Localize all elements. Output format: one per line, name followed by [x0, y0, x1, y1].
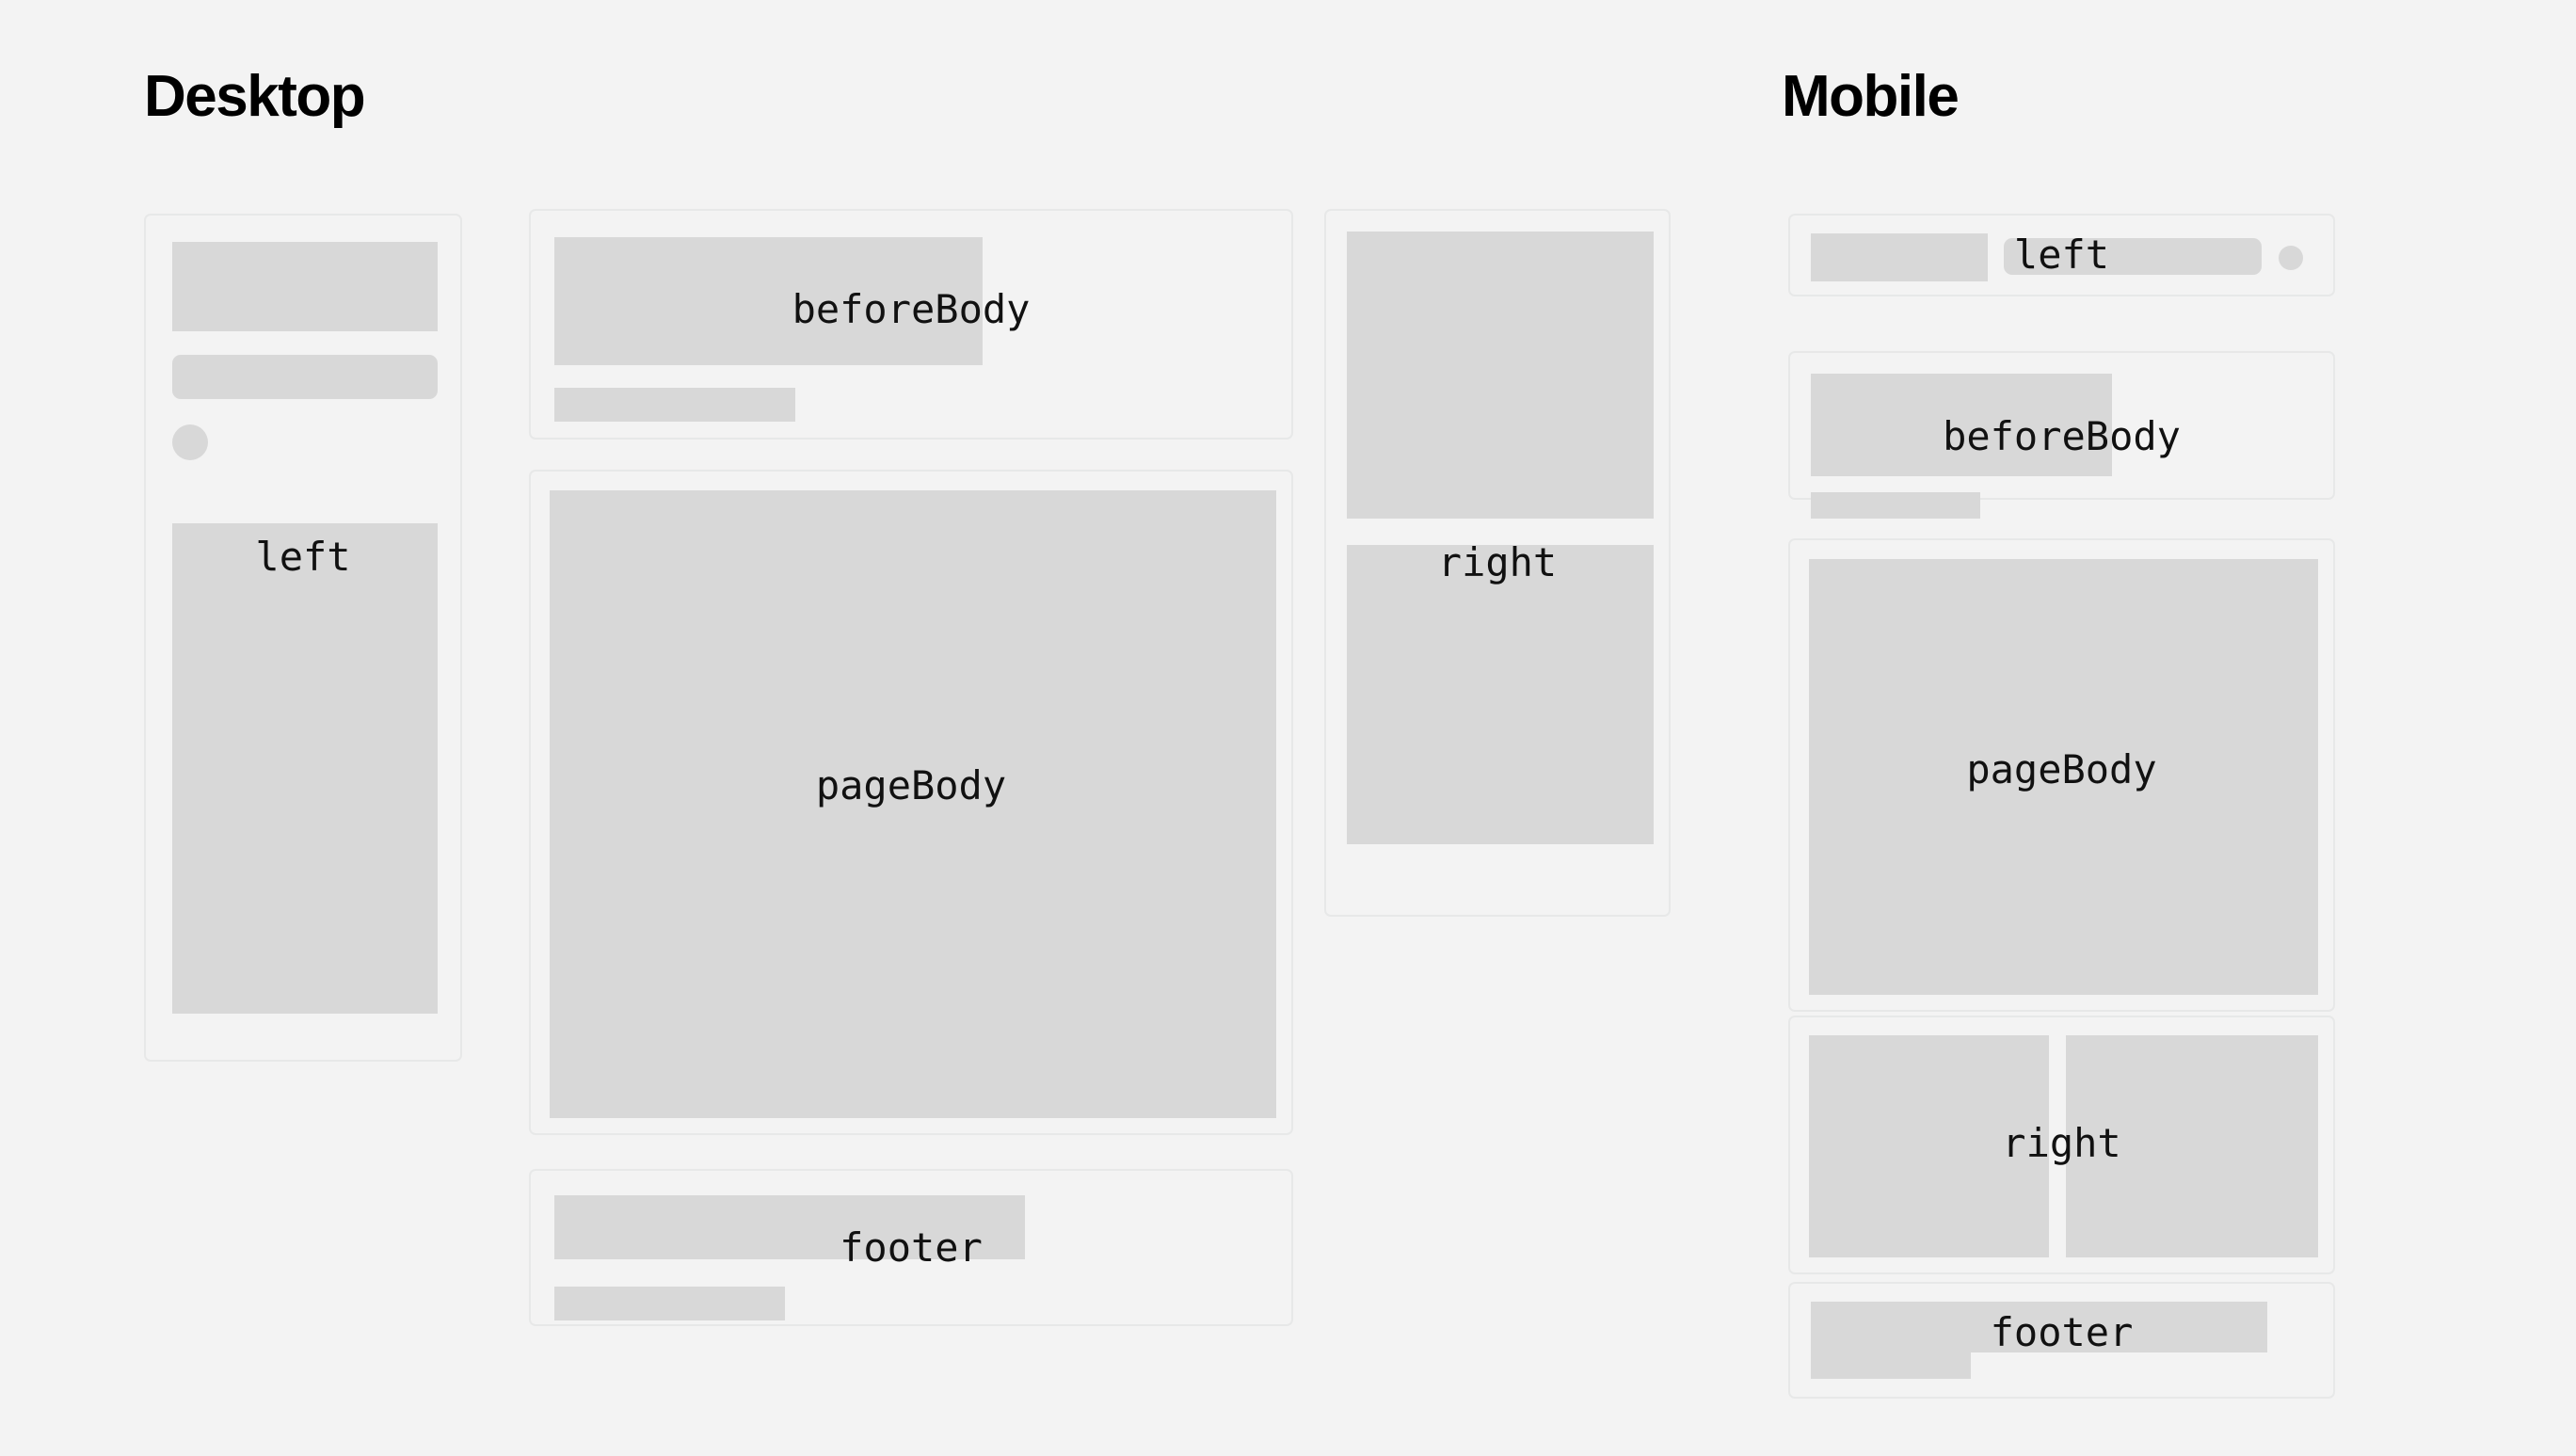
desktop-section-title: Desktop	[144, 68, 364, 126]
skeleton-block	[554, 388, 795, 422]
skeleton-block	[2066, 1035, 2318, 1257]
skeleton-block	[172, 242, 438, 331]
skeleton-block	[172, 523, 438, 1014]
desktop-pagebody-panel[interactable]	[529, 470, 1293, 1135]
skeleton-pill	[2004, 238, 2262, 275]
skeleton-block	[554, 237, 983, 365]
skeleton-block	[554, 1195, 1025, 1259]
skeleton-pill	[172, 355, 438, 399]
mobile-beforebody-panel[interactable]	[1788, 351, 2335, 500]
skeleton-block	[1811, 1302, 2267, 1352]
desktop-right-panel[interactable]	[1324, 209, 1671, 917]
skeleton-block	[1811, 492, 1980, 519]
skeleton-block	[1347, 232, 1654, 519]
desktop-beforebody-panel[interactable]	[529, 209, 1293, 440]
skeleton-avatar-circle	[172, 424, 208, 460]
mobile-left-panel[interactable]	[1788, 214, 2335, 296]
skeleton-block	[1811, 233, 1988, 281]
desktop-left-panel[interactable]	[144, 214, 462, 1062]
layout-preview-stage: Desktop Mobile left beforeBody pageBody …	[0, 0, 2576, 1456]
mobile-section-title: Mobile	[1782, 68, 1958, 126]
skeleton-block	[1347, 545, 1654, 844]
desktop-footer-panel[interactable]	[529, 1169, 1293, 1326]
skeleton-block	[1809, 1035, 2049, 1257]
mobile-pagebody-panel[interactable]	[1788, 538, 2335, 1012]
skeleton-avatar-circle	[2279, 246, 2303, 270]
skeleton-block	[550, 490, 1276, 1118]
skeleton-block	[1811, 374, 2112, 476]
mobile-footer-panel[interactable]	[1788, 1282, 2335, 1399]
skeleton-block	[1811, 1352, 1971, 1379]
mobile-right-panel[interactable]	[1788, 1016, 2335, 1274]
skeleton-block	[554, 1287, 785, 1320]
skeleton-block	[1809, 559, 2318, 995]
